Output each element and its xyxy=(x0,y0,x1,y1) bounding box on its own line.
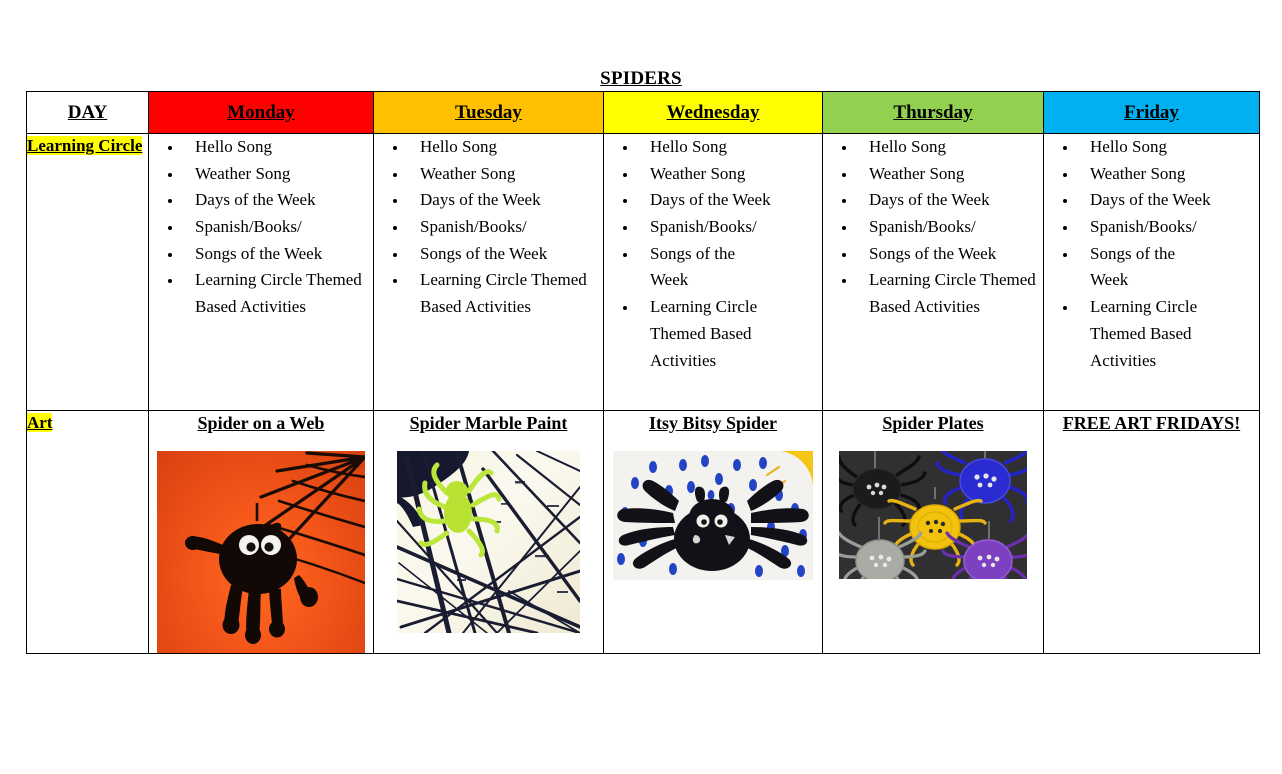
header-cell-wednesday: Wednesday xyxy=(604,92,823,134)
activity-list-wednesday: Hello Song Weather Song Days of the Week… xyxy=(604,134,822,374)
list-item: Songs of the Week xyxy=(857,241,1043,268)
list-item: Songs of the Week xyxy=(638,241,822,294)
list-item: Hello Song xyxy=(638,134,822,161)
art-title-monday: Spider on a Web xyxy=(198,411,325,435)
list-item: Learning Circle Themed Based Activities xyxy=(857,267,1043,320)
art-cell-wednesday: Itsy Bitsy Spider xyxy=(604,411,823,654)
row-label-art: Art xyxy=(27,411,149,654)
art-title-friday: FREE ART FRIDAYS! xyxy=(1063,411,1240,435)
header-label-day: DAY xyxy=(68,102,107,124)
list-item: Learning Circle Themed Based Activities xyxy=(183,267,373,320)
paper-plate-spiders-photo xyxy=(839,451,1027,579)
header-cell-tuesday: Tuesday xyxy=(374,92,604,134)
weekly-schedule-table: DAY Monday Tuesday Wednesday Thursday Fr… xyxy=(26,91,1260,654)
list-item: Weather Song xyxy=(638,161,822,188)
header-cell-day: DAY xyxy=(27,92,149,134)
handprint-spider-with-raindrops-and-sun-photo xyxy=(613,451,813,580)
art-cell-friday: FREE ART FRIDAYS! xyxy=(1044,411,1260,654)
handprint-spider-on-orange-web-photo xyxy=(157,451,365,653)
table-row-art: Art Spider on a Web xyxy=(27,411,1260,654)
activity-list-monday: Hello Song Weather Song Days of the Week… xyxy=(149,134,373,321)
list-item: Spanish/Books/ xyxy=(408,214,603,241)
activity-list-thursday: Hello Song Weather Song Days of the Week… xyxy=(823,134,1043,321)
learning-circle-cell-thursday: Hello Song Weather Song Days of the Week… xyxy=(823,134,1044,411)
art-cell-monday: Spider on a Web xyxy=(149,411,374,654)
header-cell-friday: Friday xyxy=(1044,92,1260,134)
list-item: Days of the Week xyxy=(408,187,603,214)
header-label-tuesday: Tuesday xyxy=(455,102,522,124)
list-item: Weather Song xyxy=(1078,161,1259,188)
learning-circle-cell-friday: Hello Song Weather Song Days of the Week… xyxy=(1044,134,1260,411)
header-cell-thursday: Thursday xyxy=(823,92,1044,134)
list-item: Days of the Week xyxy=(638,187,822,214)
art-cell-thursday: Spider Plates xyxy=(823,411,1044,654)
list-item: Songs of the Week xyxy=(183,241,373,268)
activity-list-friday: Hello Song Weather Song Days of the Week… xyxy=(1044,134,1259,374)
list-item: Hello Song xyxy=(1078,134,1259,161)
marble-paint-web-with-green-spider-photo xyxy=(397,451,580,633)
list-item: Days of the Week xyxy=(183,187,373,214)
list-item: Learning Circle Themed Based Activities xyxy=(638,294,822,374)
header-label-wednesday: Wednesday xyxy=(667,102,760,124)
table-row-learning-circle: Learning Circle Hello Song Weather Song … xyxy=(27,134,1260,411)
list-item: Days of the Week xyxy=(857,187,1043,214)
table-header-row: DAY Monday Tuesday Wednesday Thursday Fr… xyxy=(27,92,1260,134)
list-item: Songs of the Week xyxy=(1078,241,1259,294)
list-item: Songs of the Week xyxy=(408,241,603,268)
page-title: SPIDERS xyxy=(0,68,1282,90)
row-label-learning-circle: Learning Circle xyxy=(27,134,149,411)
list-item: Hello Song xyxy=(857,134,1043,161)
list-item: Hello Song xyxy=(183,134,373,161)
art-title-wednesday: Itsy Bitsy Spider xyxy=(649,411,777,435)
list-item: Learning Circle Themed Based Activities xyxy=(408,267,603,320)
list-item: Weather Song xyxy=(183,161,373,188)
learning-circle-cell-monday: Hello Song Weather Song Days of the Week… xyxy=(149,134,374,411)
header-label-thursday: Thursday xyxy=(893,102,972,124)
learning-circle-cell-wednesday: Hello Song Weather Song Days of the Week… xyxy=(604,134,823,411)
row-label-art-text: Art xyxy=(27,413,52,432)
list-item: Hello Song xyxy=(408,134,603,161)
list-item: Spanish/Books/ xyxy=(638,214,822,241)
learning-circle-cell-tuesday: Hello Song Weather Song Days of the Week… xyxy=(374,134,604,411)
art-title-tuesday: Spider Marble Paint xyxy=(410,411,568,435)
list-item: Spanish/Books/ xyxy=(857,214,1043,241)
list-item: Spanish/Books/ xyxy=(1078,214,1259,241)
header-label-monday: Monday xyxy=(227,102,295,124)
row-label-learning-circle-text: Learning Circle xyxy=(27,136,142,155)
list-item: Spanish/Books/ xyxy=(183,214,373,241)
schedule-page: SPIDERS DAY Monday Tuesday Wednesday xyxy=(0,0,1282,774)
header-cell-monday: Monday xyxy=(149,92,374,134)
art-title-thursday: Spider Plates xyxy=(882,411,983,435)
list-item: Days of the Week xyxy=(1078,187,1259,214)
activity-list-tuesday: Hello Song Weather Song Days of the Week… xyxy=(374,134,603,321)
header-label-friday: Friday xyxy=(1124,102,1179,124)
list-item: Weather Song xyxy=(408,161,603,188)
list-item: Learning Circle Themed Based Activities xyxy=(1078,294,1259,374)
list-item: Weather Song xyxy=(857,161,1043,188)
art-cell-tuesday: Spider Marble Paint xyxy=(374,411,604,654)
